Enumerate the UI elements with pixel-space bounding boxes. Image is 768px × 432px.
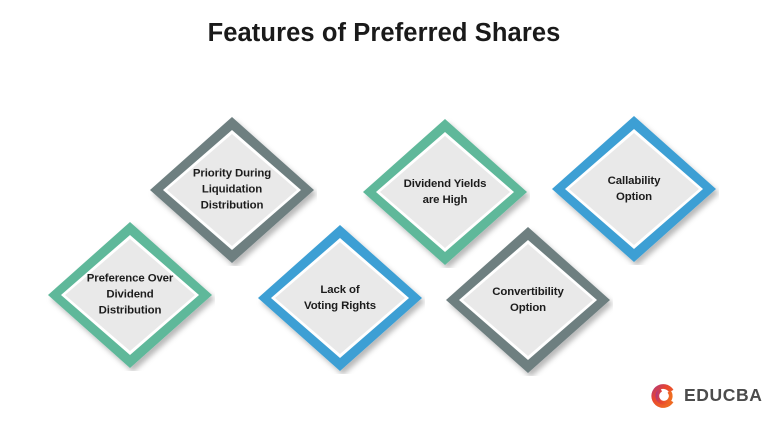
diamond-label: Dividend Yields are High: [387, 176, 503, 208]
diamond-label: Convertibility Option: [470, 284, 586, 316]
educba-circle-play-icon: [650, 382, 678, 410]
diamond-label: Preference Over Dividend Distribution: [72, 271, 188, 320]
infographic-canvas: Features of Preferred Shares Preference …: [0, 0, 768, 432]
diamond-label: Lack of Voting Rights: [282, 282, 398, 314]
diamond-node-callability-option[interactable]: Callability Option: [549, 113, 719, 265]
diamond-label: Callability Option: [576, 173, 692, 205]
diamond-diagram: Preference Over Dividend Distribution Pr…: [0, 0, 768, 432]
diamond-label: Priority During Liquidation Distribution: [174, 166, 290, 215]
educba-logo[interactable]: EDUCBA: [650, 382, 762, 410]
educba-wordmark: EDUCBA: [684, 387, 762, 405]
